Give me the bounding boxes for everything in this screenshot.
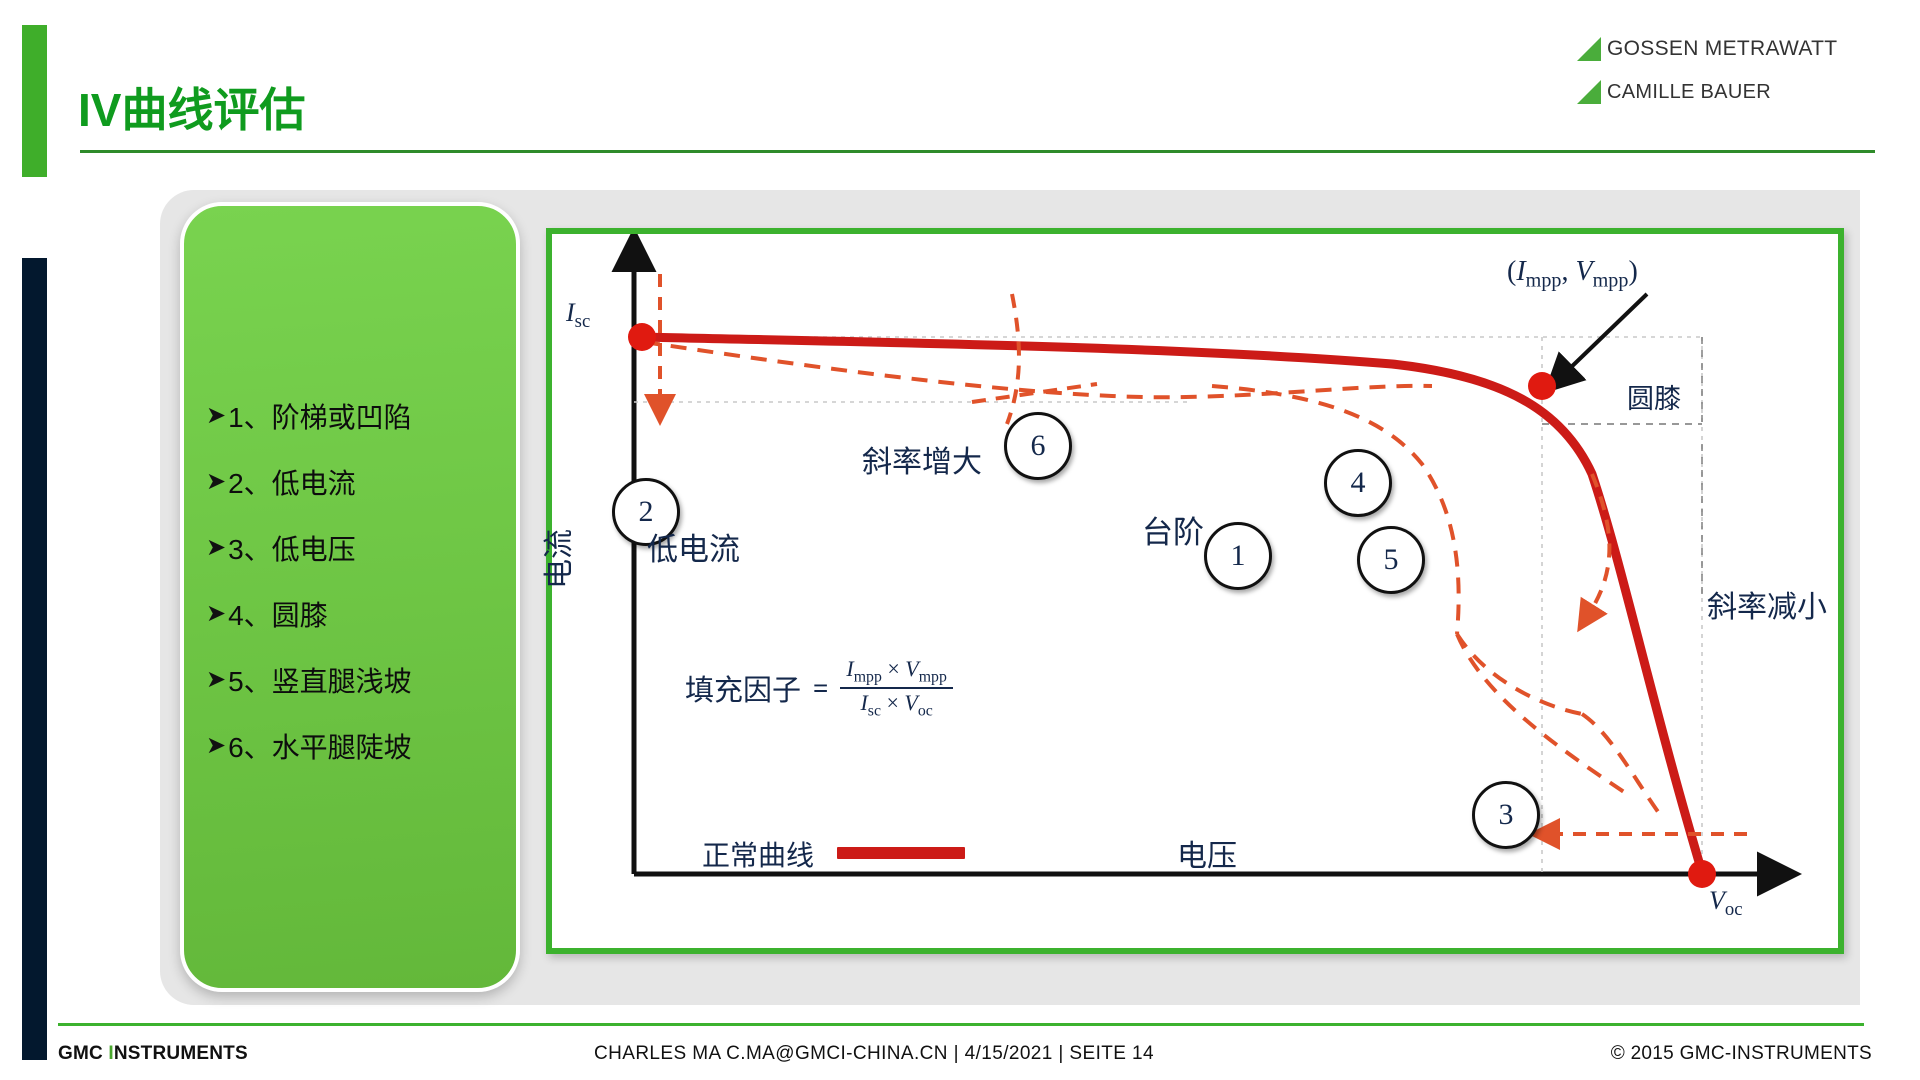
isc-symbol: I xyxy=(566,298,575,327)
slope-increase-marker xyxy=(1007,294,1019,424)
formula-denominator: Isc × Voc xyxy=(854,689,938,721)
green-triangle-icon xyxy=(1575,35,1603,63)
bullet-list-card: ➤ 1、阶梯或凹陷 ➤ 2、低电流 ➤ 3、低电压 ➤ 4、圆膝 ➤ 5、竖直腿… xyxy=(180,202,520,992)
footer-brand-rest: NSTRUMENTS xyxy=(114,1043,248,1064)
page-title: IV曲线评估 xyxy=(78,74,305,140)
knee-label: 圆膝 xyxy=(1627,377,1681,416)
fault-curve-step-lower xyxy=(1457,634,1582,714)
voc-point xyxy=(1688,860,1716,888)
y-axis-label: 电流 xyxy=(534,529,578,589)
list-item: ➤ 5、竖直腿浅坡 xyxy=(206,660,516,700)
brand-logos: GOSSEN METRAWATT CAMILLE BAUER xyxy=(1575,32,1875,118)
iv-curve-chart: 2 6 1 4 5 3 Isc Voc (Impp, Vmpp) 圆膝 斜率增大… xyxy=(546,228,1844,954)
footer-copyright: © 2015 GMC-INSTRUMENTS xyxy=(1611,1043,1872,1065)
legend-label: 正常曲线 xyxy=(702,834,814,874)
mpp-callout-arrow xyxy=(1564,294,1647,374)
list-item-label: 5、竖直腿浅坡 xyxy=(228,660,412,700)
arrow-bullet-icon: ➤ xyxy=(206,734,226,758)
footer-brand: GMC INSTRUMENTS xyxy=(58,1043,248,1065)
formula-numerator: Impp × Vmpp xyxy=(840,655,952,689)
logo-camille-label: CAMILLE BAUER xyxy=(1607,81,1771,104)
list-item-label: 4、圆膝 xyxy=(228,594,328,634)
formula-equals: = xyxy=(813,673,828,704)
isc-point xyxy=(628,323,656,351)
arrow-bullet-icon: ➤ xyxy=(206,668,226,692)
annotation-circle-1[interactable]: 1 xyxy=(1204,522,1272,590)
low-current-label: 低电流 xyxy=(647,524,740,569)
annotation-circle-4[interactable]: 4 xyxy=(1324,449,1392,517)
formula-name: 填充因子 xyxy=(685,667,801,709)
x-axis-label: 电压 xyxy=(1177,831,1237,875)
fault-curve-vertical-leg xyxy=(1582,714,1664,820)
step-label: 台阶 xyxy=(1142,507,1204,552)
title-underline xyxy=(80,150,1875,153)
mpp-callout-label: (Impp, Vmpp) xyxy=(1507,256,1638,293)
logo-camille-bauer: CAMILLE BAUER xyxy=(1575,75,1875,109)
isc-subscript: sc xyxy=(575,311,591,332)
logo-gossen-label: GOSSEN METRAWATT xyxy=(1607,37,1837,61)
arrow-bullet-icon: ➤ xyxy=(206,470,226,494)
green-triangle-icon xyxy=(1575,78,1603,106)
footer-divider xyxy=(58,1023,1864,1026)
list-item-label: 1、阶梯或凹陷 xyxy=(228,396,412,436)
slope-increase-label: 斜率增大 xyxy=(862,437,982,481)
list-item-label: 2、低电流 xyxy=(228,462,356,502)
fill-factor-formula: 填充因子 = Impp × Vmpp Isc × Voc xyxy=(685,655,953,722)
mpp-point xyxy=(1528,372,1556,400)
isc-axis-label: Isc xyxy=(566,298,590,333)
fault-curve-step xyxy=(1212,386,1459,634)
voc-symbol: V xyxy=(1709,886,1725,915)
voc-axis-label: Voc xyxy=(1709,886,1743,921)
footer-meta: CHARLES MA C.MA@GMCI-CHINA.CN | 4/15/202… xyxy=(594,1043,1154,1065)
voc-subscript: oc xyxy=(1725,899,1743,920)
list-item: ➤ 4、圆膝 xyxy=(206,594,516,634)
arrow-bullet-icon: ➤ xyxy=(206,602,226,626)
logo-gossen-metrawatt: GOSSEN METRAWATT xyxy=(1575,32,1875,66)
arrow-bullet-icon: ➤ xyxy=(206,536,226,560)
slope-decrease-label: 斜率减小 xyxy=(1707,582,1827,626)
list-item: ➤ 3、低电压 xyxy=(206,528,516,568)
annotation-circle-5[interactable]: 5 xyxy=(1357,526,1425,594)
list-item-label: 6、水平腿陡坡 xyxy=(228,726,412,766)
list-item: ➤ 6、水平腿陡坡 xyxy=(206,726,516,766)
list-item-label: 3、低电压 xyxy=(228,528,356,568)
annotation-circle-3[interactable]: 3 xyxy=(1472,781,1540,849)
left-accent-bar-dark xyxy=(22,258,47,1060)
left-accent-bar-green xyxy=(22,25,47,177)
footer-brand-gmc: GMC xyxy=(58,1043,108,1064)
normal-iv-curve xyxy=(642,337,1702,872)
annotation-circle-6[interactable]: 6 xyxy=(1004,412,1072,480)
list-item: ➤ 2、低电流 xyxy=(206,462,516,502)
arrow-bullet-icon: ➤ xyxy=(206,404,226,428)
legend-color-swatch xyxy=(837,847,965,859)
list-item: ➤ 1、阶梯或凹陷 xyxy=(206,396,516,436)
